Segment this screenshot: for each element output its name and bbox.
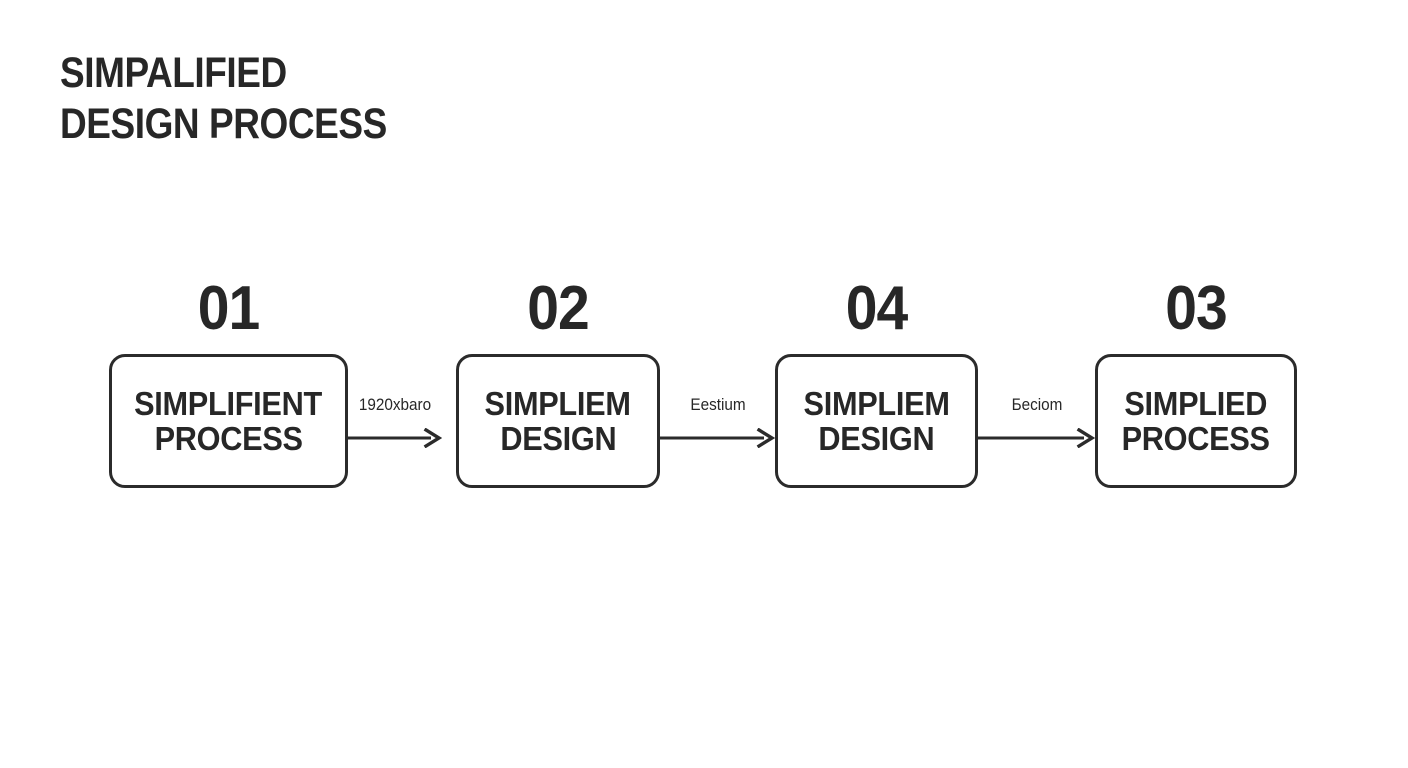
arrow-right-icon	[348, 428, 442, 448]
connector-3-label: Бeciom	[1011, 396, 1062, 414]
step-box-4-line-1: SIMPLIED	[1125, 386, 1268, 421]
connector-1: 1920хbaro	[348, 404, 442, 448]
process-step-3[interactable]: 04 SIMPLIEM DESIGN	[775, 354, 978, 488]
step-number-3: 04	[783, 278, 970, 340]
process-step-1[interactable]: 01 SIMPLIFIENT PROCESS	[109, 354, 348, 488]
process-flow-diagram: 01 SIMPLIFIENT PROCESS 1920хbaro 02 SIMP…	[0, 0, 1408, 768]
arrow-right-icon	[660, 428, 775, 448]
connector-3: Бeciom	[978, 404, 1095, 448]
step-box-3-line-1: SIMPLIEM	[803, 386, 949, 421]
step-box-1[interactable]: SIMPLIFIENT PROCESS	[109, 354, 348, 488]
step-number-4: 03	[1103, 278, 1289, 340]
step-number-2: 02	[464, 278, 652, 340]
connector-2-label: Eestium	[690, 396, 745, 414]
step-box-4[interactable]: SIMPLIED PROCESS	[1095, 354, 1297, 488]
process-step-4[interactable]: 03 SIMPLIED PROCESS	[1095, 354, 1297, 488]
step-box-2-line-1: SIMPLIEM	[485, 386, 631, 421]
step-box-1-line-1: SIMPLIFIENT	[135, 386, 323, 421]
step-box-2[interactable]: SIMPLIEM DESIGN	[456, 354, 660, 488]
step-box-1-line-2: PROCESS	[154, 421, 302, 456]
process-step-2[interactable]: 02 SIMPLIEM DESIGN	[456, 354, 660, 488]
arrow-right-icon	[978, 428, 1095, 448]
step-box-3-line-2: DESIGN	[818, 421, 934, 456]
step-box-2-line-2: DESIGN	[500, 421, 616, 456]
step-number-1: 01	[119, 278, 339, 340]
connector-2: Eestium	[660, 404, 775, 448]
step-box-4-line-2: PROCESS	[1122, 421, 1270, 456]
connector-1-label: 1920хbaro	[359, 396, 431, 414]
step-box-3[interactable]: SIMPLIEM DESIGN	[775, 354, 978, 488]
